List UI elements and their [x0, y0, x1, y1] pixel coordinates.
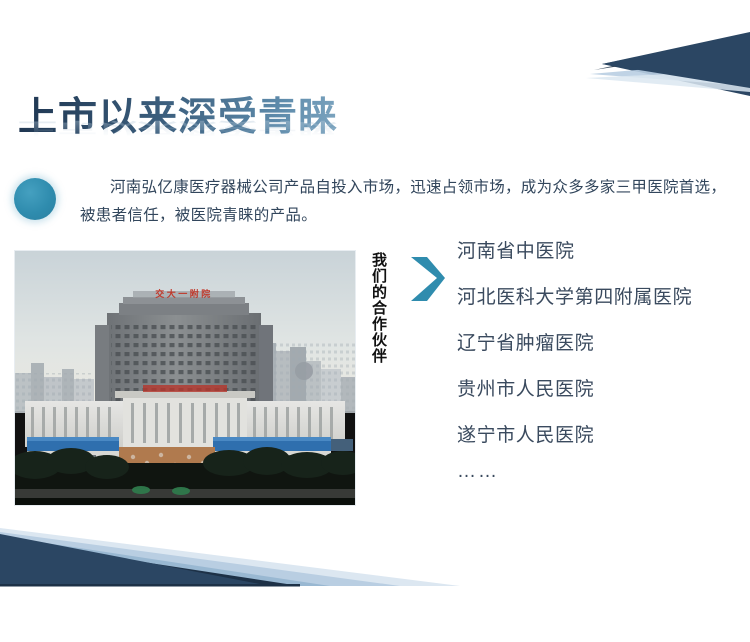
list-item: 河南省中医院 [457, 240, 747, 264]
partner-hospital-list: 河南省中医院 河北医科大学第四附属医院 辽宁省肿瘤医院 贵州市人民医院 遂宁市人… [457, 240, 747, 506]
list-item: 河北医科大学第四附属医院 [457, 286, 747, 310]
chevron-right-icon [405, 255, 447, 303]
decoration-bottom-left [0, 512, 750, 642]
list-item-ellipsis: …… [457, 460, 747, 484]
hospital-photo-image: 交大一附院 [15, 251, 355, 505]
list-item: 贵州市人民医院 [457, 378, 747, 402]
list-item: 遂宁市人民医院 [457, 424, 747, 448]
circle-bullet-icon [14, 178, 56, 220]
partners-label: 我们的合作伙伴 [363, 252, 389, 364]
hospital-photo: 交大一附院 [14, 250, 356, 506]
svg-text:交大一附院: 交大一附院 [155, 288, 213, 300]
list-item: 辽宁省肿瘤医院 [457, 332, 747, 356]
decoration-top-right [550, 0, 750, 120]
page-title-reflection: 上市以来深受青睐 [18, 119, 338, 137]
intro-paragraph-row: 河南弘亿康医疗器械公司产品自投入市场，迅速占领市场，成为众多多家三甲医院首选，被… [14, 174, 730, 230]
slide-title-block: 上市以来深受青睐 上市以来深受青睐 [18, 96, 438, 160]
building-rooftop-sign: 交大一附院 [155, 288, 213, 300]
slide-canvas: 上市以来深受青睐 上市以来深受青睐 河南弘亿康医疗器械公司产品自投入市场，迅速占… [0, 0, 750, 642]
intro-paragraph: 河南弘亿康医疗器械公司产品自投入市场，迅速占领市场，成为众多多家三甲医院首选，被… [80, 174, 730, 230]
